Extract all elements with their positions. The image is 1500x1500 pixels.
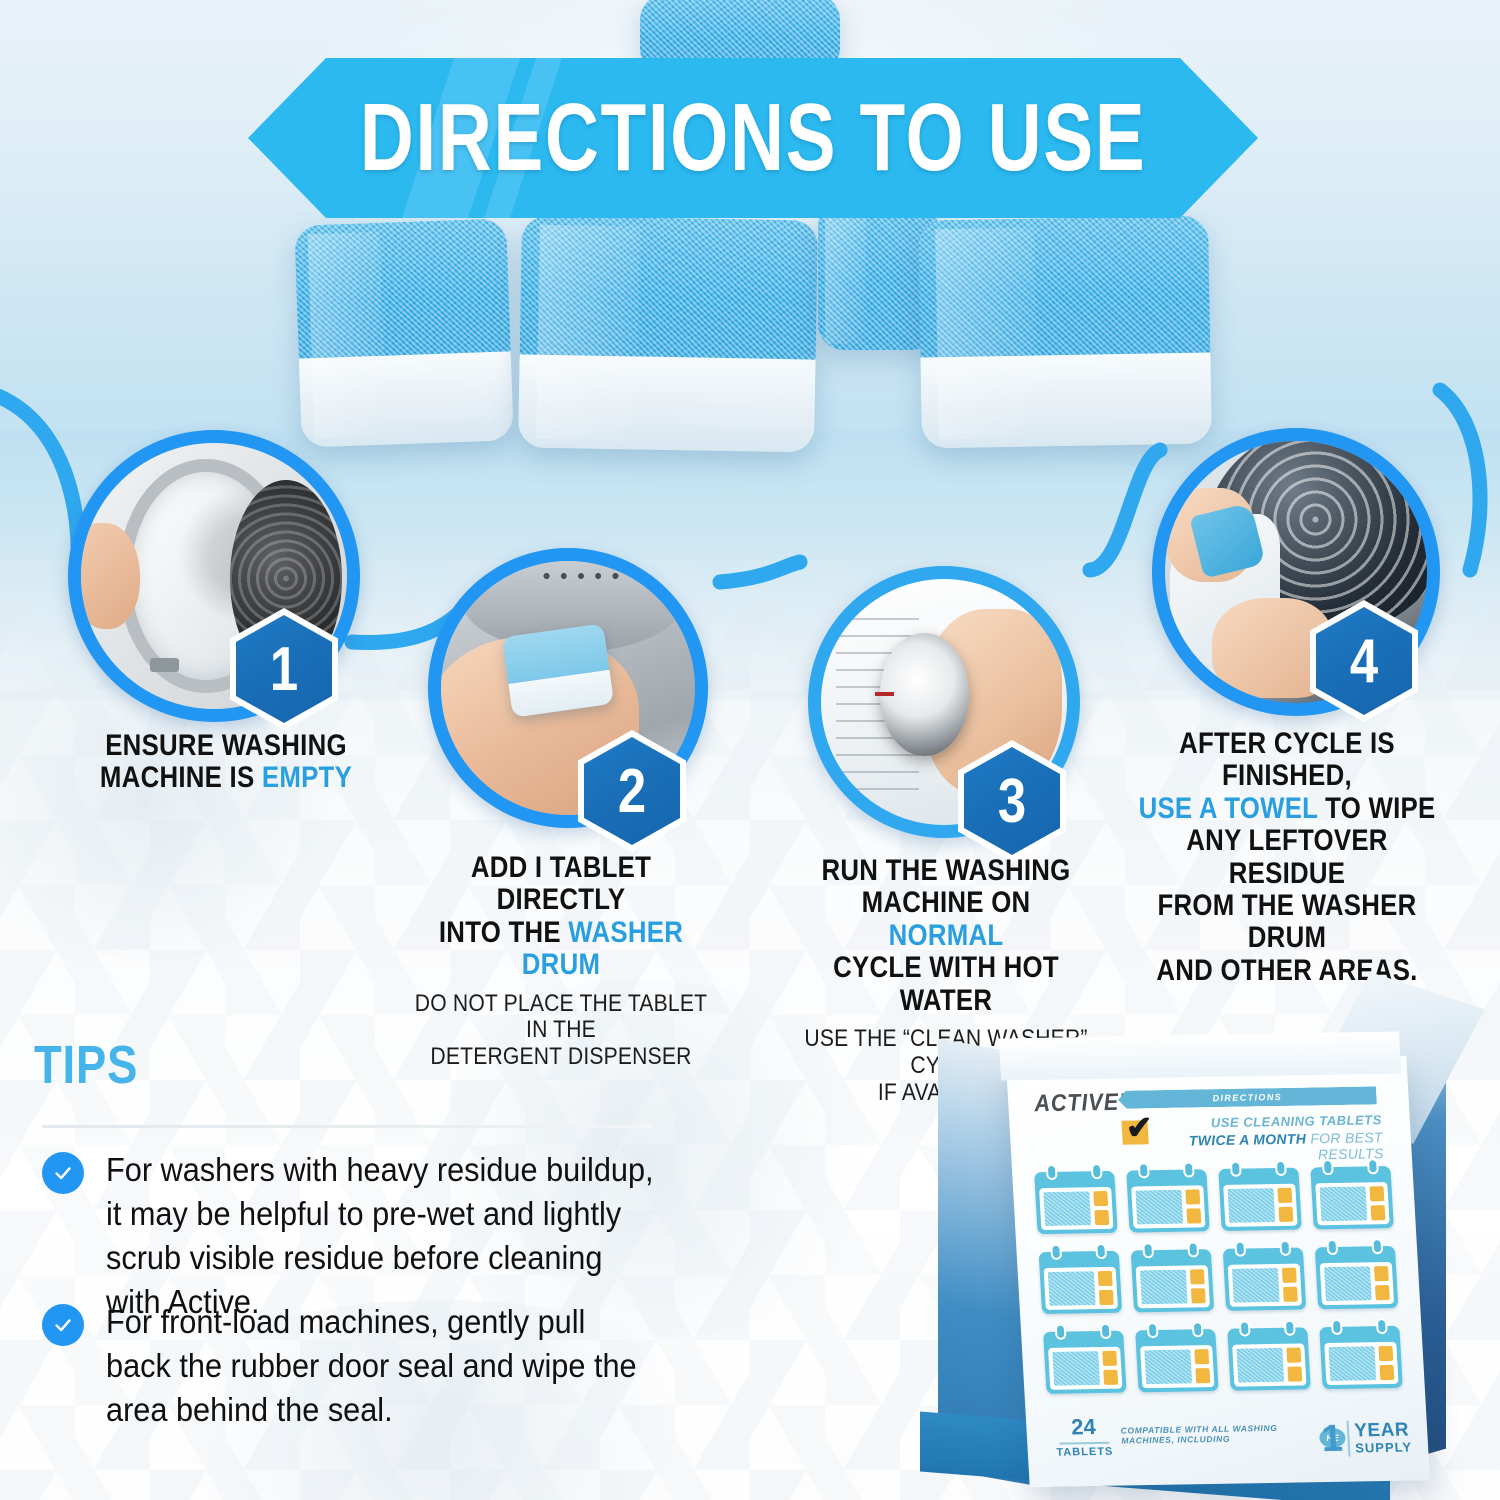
calendar-pin-left [1055, 1324, 1067, 1340]
calendar-marked-days [1282, 1268, 1298, 1302]
infographic-canvas: DIRECTIONS TO USE 1 ENSURE WASHING MACHI… [0, 0, 1500, 1500]
check-circle-icon [42, 1304, 84, 1346]
step-2-sub-line-2: DETERGENT DISPENSER [409, 1044, 713, 1071]
step-3-caption-line-1: RUN THE WASHING [802, 855, 1091, 887]
calendar-icon [1126, 1169, 1210, 1232]
active-washing-machine-cleaner-box-photo: ACTIVE’ DIRECTIONS ✔ USE CLEANING TABLET… [900, 975, 1500, 1500]
step-3-highlight: NORMAL [889, 919, 1004, 952]
step-1-caption: ENSURE WASHING MACHINE IS EMPTY [56, 730, 396, 795]
step-4-caption-line-1: AFTER CYCLE IS FINISHED, [1130, 728, 1445, 793]
calendar-marked-days [1194, 1349, 1210, 1383]
supply-year-label: YEAR [1354, 1421, 1412, 1442]
calendar-tablet-image [1236, 1348, 1284, 1383]
calendar-tablet-image [1135, 1190, 1183, 1225]
step-4-number-badge: 4 [1310, 600, 1418, 722]
calendar-tablet-image [1324, 1266, 1372, 1301]
supply-word-label: SUPPLY [1355, 1441, 1413, 1456]
calendar-body [1228, 1264, 1302, 1307]
step-4-caption-line-3: ANY LEFTOVER RESIDUE [1130, 825, 1445, 890]
calendar-pin-right [1187, 1241, 1199, 1257]
calendar-icon [1227, 1327, 1311, 1390]
calendar-tablet-image [1232, 1268, 1280, 1303]
step-1-caption-line-1: ENSURE WASHING [80, 730, 372, 762]
calendar-tablet-image [1144, 1349, 1192, 1384]
calendar-icon [1218, 1168, 1302, 1231]
step-3-number-badge: 3 [958, 740, 1066, 862]
calendar-pin-right [1279, 1240, 1291, 1256]
calendar-icon-grid [1034, 1166, 1403, 1394]
calendar-pin-left [1322, 1159, 1334, 1175]
calendar-pin-right [1091, 1163, 1103, 1179]
calendar-icon [1131, 1249, 1215, 1312]
calendar-body [1136, 1265, 1210, 1308]
step-2-caption-line-1: ADD I TABLET DIRECTLY [412, 852, 710, 917]
calendar-pin-left [1230, 1161, 1242, 1177]
tips-heading: TIPS [34, 1034, 138, 1096]
calendar-marked-days [1277, 1188, 1293, 1222]
calendar-pin-right [1367, 1158, 1379, 1174]
supply-number: 1 [1320, 1420, 1343, 1458]
calendar-body [1324, 1342, 1398, 1385]
calendar-tablet-image [1052, 1351, 1100, 1386]
tablet-count-number: 24 [1052, 1414, 1115, 1441]
calendar-marked-days [1185, 1189, 1201, 1223]
calendar-pin-left [1331, 1319, 1343, 1335]
frequency-rest: FOR BEST RESULTS [1306, 1129, 1384, 1162]
step-1-highlight: EMPTY [262, 761, 352, 794]
step-3-caption-line-2: MACHINE ON NORMAL [802, 887, 1091, 952]
supply-divider [1347, 1421, 1351, 1457]
calendar-pin-left [1138, 1162, 1150, 1178]
page-title: DIRECTIONS TO USE [359, 58, 1147, 218]
tip-item-1: For washers with heavy residue buildup, … [42, 1148, 696, 1324]
calendar-body [1315, 1182, 1389, 1225]
calendar-pin-left [1050, 1244, 1062, 1260]
calendar-pin-right [1100, 1323, 1112, 1339]
calendar-icon [1223, 1248, 1307, 1311]
calendar-pin-right [1183, 1161, 1195, 1177]
step-1-number: 1 [240, 608, 329, 730]
calendar-icon [1135, 1329, 1219, 1392]
calendar-tablet-image [1319, 1186, 1367, 1221]
compatibility-text: COMPATIBLE WITH ALL WASHING MACHINES, IN… [1120, 1422, 1321, 1445]
calendar-pin-right [1376, 1318, 1388, 1334]
step-4-highlight: USE A TOWEL [1139, 792, 1318, 825]
tablet-count-block: 24 TABLETS [1052, 1414, 1116, 1459]
tip-text-1: For washers with heavy residue buildup, … [106, 1148, 655, 1324]
frequency-line-1: USE CLEANING TABLETS [1159, 1112, 1382, 1131]
check-circle-icon [42, 1152, 84, 1194]
directions-label: DIRECTIONS [1212, 1092, 1282, 1103]
tip-text-2: For front-load machines, gently pull bac… [106, 1300, 655, 1432]
calendar-pin-left [1234, 1241, 1246, 1257]
step-1-number-badge: 1 [230, 608, 338, 730]
calendar-marked-days [1286, 1348, 1302, 1382]
calendar-body [1232, 1343, 1306, 1386]
calendar-pin-right [1095, 1243, 1107, 1259]
calendar-tablet-image [1328, 1346, 1376, 1381]
calendar-tablet-image [1140, 1270, 1188, 1305]
tips-divider [42, 1125, 652, 1128]
year-supply-block: 1 YEAR SUPPLY [1320, 1419, 1412, 1459]
calendar-marked-days [1102, 1351, 1118, 1385]
calendar-marked-days [1190, 1269, 1206, 1303]
calendar-body [1320, 1262, 1394, 1305]
calendar-marked-days [1098, 1271, 1114, 1305]
calendar-tablet-image [1048, 1271, 1096, 1306]
step-4-caption: AFTER CYCLE IS FINISHED, USE A TOWEL TO … [1104, 728, 1470, 987]
step-3-number: 3 [968, 740, 1057, 862]
calendar-body [1039, 1187, 1113, 1230]
step-4-caption-line-2: USE A TOWEL TO WIPE [1130, 793, 1445, 825]
box-front-face: ACTIVE’ DIRECTIONS ✔ USE CLEANING TABLET… [1006, 1056, 1430, 1487]
calendar-icon [1310, 1166, 1394, 1229]
frequency-line-2: TWICE A MONTH FOR BEST RESULTS [1150, 1129, 1384, 1165]
calendar-pin-left [1326, 1239, 1338, 1255]
calendar-tablet-image [1043, 1191, 1091, 1226]
step-2-number-badge: 2 [578, 730, 686, 852]
box-top-strip [999, 1032, 1402, 1081]
step-1-caption-line-2: MACHINE IS EMPTY [80, 762, 372, 794]
calendar-pin-right [1371, 1238, 1383, 1254]
calendar-marked-days [1378, 1346, 1394, 1380]
calendar-body [1223, 1184, 1297, 1227]
tip-item-2: For front-load machines, gently pull bac… [42, 1300, 696, 1432]
calendar-icon [1319, 1326, 1403, 1389]
calendar-pin-left [1142, 1242, 1154, 1258]
calendar-icon [1039, 1251, 1123, 1314]
calendar-icon [1034, 1171, 1118, 1234]
calendar-body [1048, 1347, 1122, 1390]
calendar-body [1140, 1345, 1214, 1388]
calendar-body [1044, 1267, 1118, 1310]
calendar-pin-right [1275, 1160, 1287, 1176]
calendar-icon [1315, 1246, 1399, 1309]
tablet-count-unit: TABLETS [1054, 1446, 1117, 1459]
calendar-marked-days [1093, 1191, 1109, 1225]
step-2-number: 2 [588, 730, 677, 852]
calendar-marked-days [1369, 1186, 1385, 1220]
calendar-pin-left [1147, 1322, 1159, 1338]
calendar-body [1131, 1185, 1205, 1228]
step-2-caption-line-2: INTO THE WASHER DRUM [412, 917, 710, 982]
calendar-pin-right [1192, 1321, 1204, 1337]
calendar-pin-right [1284, 1320, 1296, 1336]
calendar-marked-days [1374, 1266, 1390, 1300]
step-2-sub-line-1: DO NOT PLACE THE TABLET IN THE [409, 991, 713, 1045]
calendar-tablet-image [1227, 1188, 1275, 1223]
step-4-number: 4 [1320, 600, 1409, 722]
calendar-pin-left [1046, 1164, 1058, 1180]
calendar-icon [1043, 1331, 1127, 1394]
frequency-bold: TWICE A MONTH [1188, 1131, 1306, 1149]
calendar-pin-left [1239, 1320, 1251, 1336]
step-4-caption-line-4: FROM THE WASHER DRUM [1130, 890, 1445, 955]
step-2-caption: ADD I TABLET DIRECTLY INTO THE WASHER DR… [388, 852, 734, 1071]
